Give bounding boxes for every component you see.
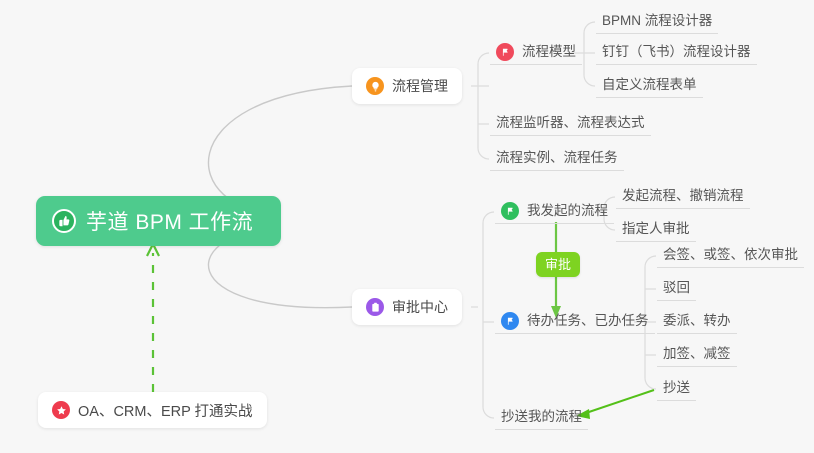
group-label: 我发起的流程 bbox=[527, 201, 608, 220]
leaf-label: 流程实例、流程任务 bbox=[496, 148, 618, 167]
leaf-carbon-copy[interactable]: 抄送 bbox=[657, 378, 696, 401]
leaf-bpmn-designer[interactable]: BPMN 流程设计器 bbox=[596, 11, 718, 34]
leaf-label: BPMN 流程设计器 bbox=[602, 11, 712, 30]
branch-label: 流程管理 bbox=[392, 76, 448, 96]
edge-green-cc-flow bbox=[583, 390, 654, 414]
branch-approval-center[interactable]: 审批中心 bbox=[352, 289, 462, 325]
group-todo-done-tasks[interactable]: 待办任务、已办任务 bbox=[495, 311, 655, 334]
group-label: 流程模型 bbox=[522, 42, 576, 61]
leaf-dingtalk-designer[interactable]: 钉钉（飞书）流程设计器 bbox=[596, 42, 757, 65]
footnote-node[interactable]: OA、CRM、ERP 打通实战 bbox=[38, 392, 267, 428]
branch-flow-management[interactable]: 流程管理 bbox=[352, 68, 462, 104]
edge-approval-center-spine bbox=[483, 212, 494, 418]
leaf-label: 流程监听器、流程表达式 bbox=[496, 113, 645, 132]
flag-icon bbox=[501, 312, 519, 330]
leaf-label: 抄送我的流程 bbox=[501, 407, 582, 426]
leaf-label: 驳回 bbox=[663, 278, 690, 297]
leaf-countersign[interactable]: 会签、或签、依次审批 bbox=[657, 245, 804, 268]
root-label: 芋道 BPM 工作流 bbox=[86, 206, 253, 236]
group-label: 待办任务、已办任务 bbox=[527, 311, 649, 330]
leaf-label: 发起流程、撤销流程 bbox=[622, 186, 744, 205]
leaf-flow-instance[interactable]: 流程实例、流程任务 bbox=[490, 148, 624, 171]
leaf-cc-to-me[interactable]: 抄送我的流程 bbox=[495, 407, 588, 430]
edge-flow-management-spine bbox=[478, 53, 489, 159]
leaf-add-remove-sign[interactable]: 加签、减签 bbox=[657, 344, 737, 367]
star-icon bbox=[52, 401, 70, 419]
clipboard-icon bbox=[366, 298, 384, 316]
lightbulb-icon bbox=[366, 77, 384, 95]
group-flow-model[interactable]: 流程模型 bbox=[490, 42, 582, 65]
leaf-assignee-approval[interactable]: 指定人审批 bbox=[616, 219, 696, 242]
flag-icon bbox=[496, 43, 514, 61]
flag-icon bbox=[501, 202, 519, 220]
root-node[interactable]: 芋道 BPM 工作流 bbox=[36, 196, 281, 246]
leaf-flow-listener[interactable]: 流程监听器、流程表达式 bbox=[490, 113, 651, 136]
leaf-custom-form[interactable]: 自定义流程表单 bbox=[596, 75, 703, 98]
leaf-label: 委派、转办 bbox=[663, 311, 731, 330]
leaf-delegate-transfer[interactable]: 委派、转办 bbox=[657, 311, 737, 334]
leaf-start-cancel-process[interactable]: 发起流程、撤销流程 bbox=[616, 186, 750, 209]
edge-root-to-flow-management bbox=[208, 86, 352, 214]
leaf-label: 钉钉（飞书）流程设计器 bbox=[602, 42, 751, 61]
approval-badge[interactable]: 审批 bbox=[536, 252, 580, 277]
footnote-label: OA、CRM、ERP 打通实战 bbox=[78, 400, 253, 421]
leaf-label: 会签、或签、依次审批 bbox=[663, 245, 798, 264]
branch-label: 审批中心 bbox=[392, 297, 448, 317]
leaf-label: 抄送 bbox=[663, 378, 690, 397]
edge-flow-model-spine bbox=[584, 22, 595, 86]
leaf-label: 加签、减签 bbox=[663, 344, 731, 363]
thumbs-up-icon bbox=[52, 209, 76, 233]
leaf-label: 指定人审批 bbox=[622, 219, 690, 238]
group-my-initiated[interactable]: 我发起的流程 bbox=[495, 201, 614, 224]
leaf-reject[interactable]: 驳回 bbox=[657, 278, 696, 301]
mindmap-canvas: 芋道 BPM 工作流 流程管理 流程模型 BPMN 流程设计器 钉钉（飞书）流程… bbox=[0, 0, 814, 453]
approval-badge-label: 审批 bbox=[545, 257, 571, 272]
leaf-label: 自定义流程表单 bbox=[602, 75, 697, 94]
